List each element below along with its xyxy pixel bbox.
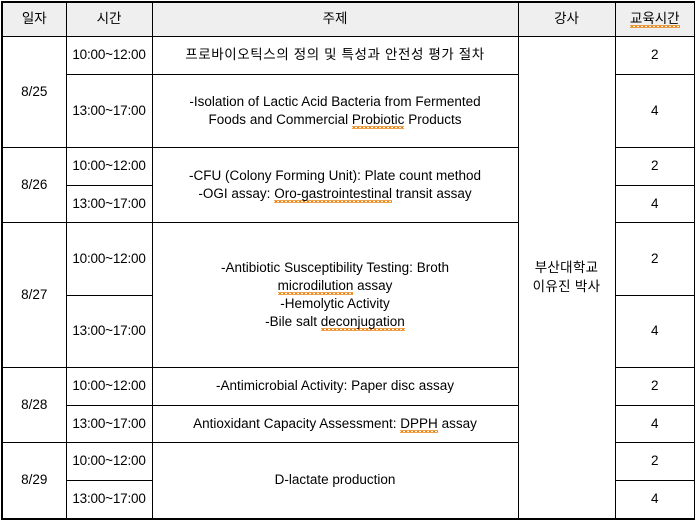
hours-cell: 2: [615, 223, 695, 295]
header-lecturer: 강사: [518, 2, 615, 37]
topic-line: Foods and Commercial Probiotic Products: [155, 111, 516, 129]
time-cell: 13:00~17:00: [66, 480, 152, 519]
lecturer-cell: 부산대학교이유진 박사: [518, 37, 615, 520]
hours-cell: 4: [615, 74, 695, 147]
lecturer-name: 이유진 박사: [521, 278, 613, 296]
topic-line: -Antimicrobial Activity: Paper disc assa…: [155, 377, 516, 395]
date-cell: 8/28: [2, 367, 66, 442]
topic-line: 프로바이오틱스의 정의 및 특성과 안전성 평가 절차: [155, 46, 516, 64]
time-cell: 10:00~12:00: [66, 367, 152, 405]
topic-cell: -Antibiotic Susceptibility Testing: Brot…: [152, 223, 518, 368]
training-schedule-table: 일자 시간 주제 강사 교육시간 8/2510:00~12:00프로바이오틱스의…: [1, 1, 695, 520]
date-cell: 8/27: [2, 223, 66, 368]
time-cell: 13:00~17:00: [66, 74, 152, 147]
topic-line: -Bile salt deconjugation: [155, 313, 516, 331]
time-cell: 10:00~12:00: [66, 443, 152, 481]
table-body: 8/2510:00~12:00프로바이오틱스의 정의 및 특성과 안전성 평가 …: [2, 37, 695, 520]
header-topic: 주제: [152, 2, 518, 37]
time-cell: 10:00~12:00: [66, 223, 152, 295]
hours-cell: 2: [615, 443, 695, 481]
header-date: 일자: [2, 2, 66, 37]
topic-cell: -CFU (Colony Forming Unit): Plate count …: [152, 147, 518, 222]
time-cell: 13:00~17:00: [66, 405, 152, 443]
time-cell: 13:00~17:00: [66, 295, 152, 367]
date-cell: 8/26: [2, 147, 66, 222]
time-cell: 10:00~12:00: [66, 147, 152, 185]
header-row: 일자 시간 주제 강사 교육시간: [2, 2, 695, 37]
spellcheck-word: deconjugation: [321, 314, 405, 331]
spellcheck-word: DPPH: [400, 416, 438, 433]
table-header: 일자 시간 주제 강사 교육시간: [2, 2, 695, 37]
hours-cell: 4: [615, 185, 695, 223]
lecturer-affiliation: 부산대학교: [521, 259, 613, 277]
header-hours-label: 교육시간: [630, 11, 680, 28]
time-cell: 13:00~17:00: [66, 185, 152, 223]
topic-cell: -Antimicrobial Activity: Paper disc assa…: [152, 367, 518, 405]
hours-cell: 4: [615, 405, 695, 443]
topic-line: -CFU (Colony Forming Unit): Plate count …: [155, 167, 516, 185]
hours-cell: 2: [615, 147, 695, 185]
topic-cell: -Isolation of Lactic Acid Bacteria from …: [152, 74, 518, 147]
topic-line: microdilution assay: [155, 277, 516, 295]
topic-cell: 프로바이오틱스의 정의 및 특성과 안전성 평가 절차: [152, 37, 518, 75]
topic-line: -Hemolytic Activity: [155, 295, 516, 313]
topic-cell: D-lactate production: [152, 443, 518, 519]
date-cell: 8/25: [2, 37, 66, 148]
spellcheck-word: Probiotic: [352, 112, 405, 129]
header-hours: 교육시간: [615, 2, 695, 37]
table-row: 8/2510:00~12:00프로바이오틱스의 정의 및 특성과 안전성 평가 …: [2, 37, 695, 75]
topic-line: -OGI assay: Oro-gastrointestinal transit…: [155, 185, 516, 203]
hours-cell: 4: [615, 295, 695, 367]
time-cell: 10:00~12:00: [66, 37, 152, 75]
topic-line: -Antibiotic Susceptibility Testing: Brot…: [155, 259, 516, 277]
spellcheck-word: microdilution: [278, 278, 354, 295]
hours-cell: 4: [615, 480, 695, 519]
topic-line: D-lactate production: [155, 471, 516, 489]
header-time: 시간: [66, 2, 152, 37]
date-cell: 8/29: [2, 443, 66, 519]
hours-cell: 2: [615, 367, 695, 405]
topic-line: Antioxidant Capacity Assessment: DPPH as…: [155, 415, 516, 433]
topic-cell: Antioxidant Capacity Assessment: DPPH as…: [152, 405, 518, 443]
spellcheck-word: Oro-gastrointestinal: [274, 186, 392, 203]
topic-line: -Isolation of Lactic Acid Bacteria from …: [155, 93, 516, 111]
hours-cell: 2: [615, 37, 695, 75]
